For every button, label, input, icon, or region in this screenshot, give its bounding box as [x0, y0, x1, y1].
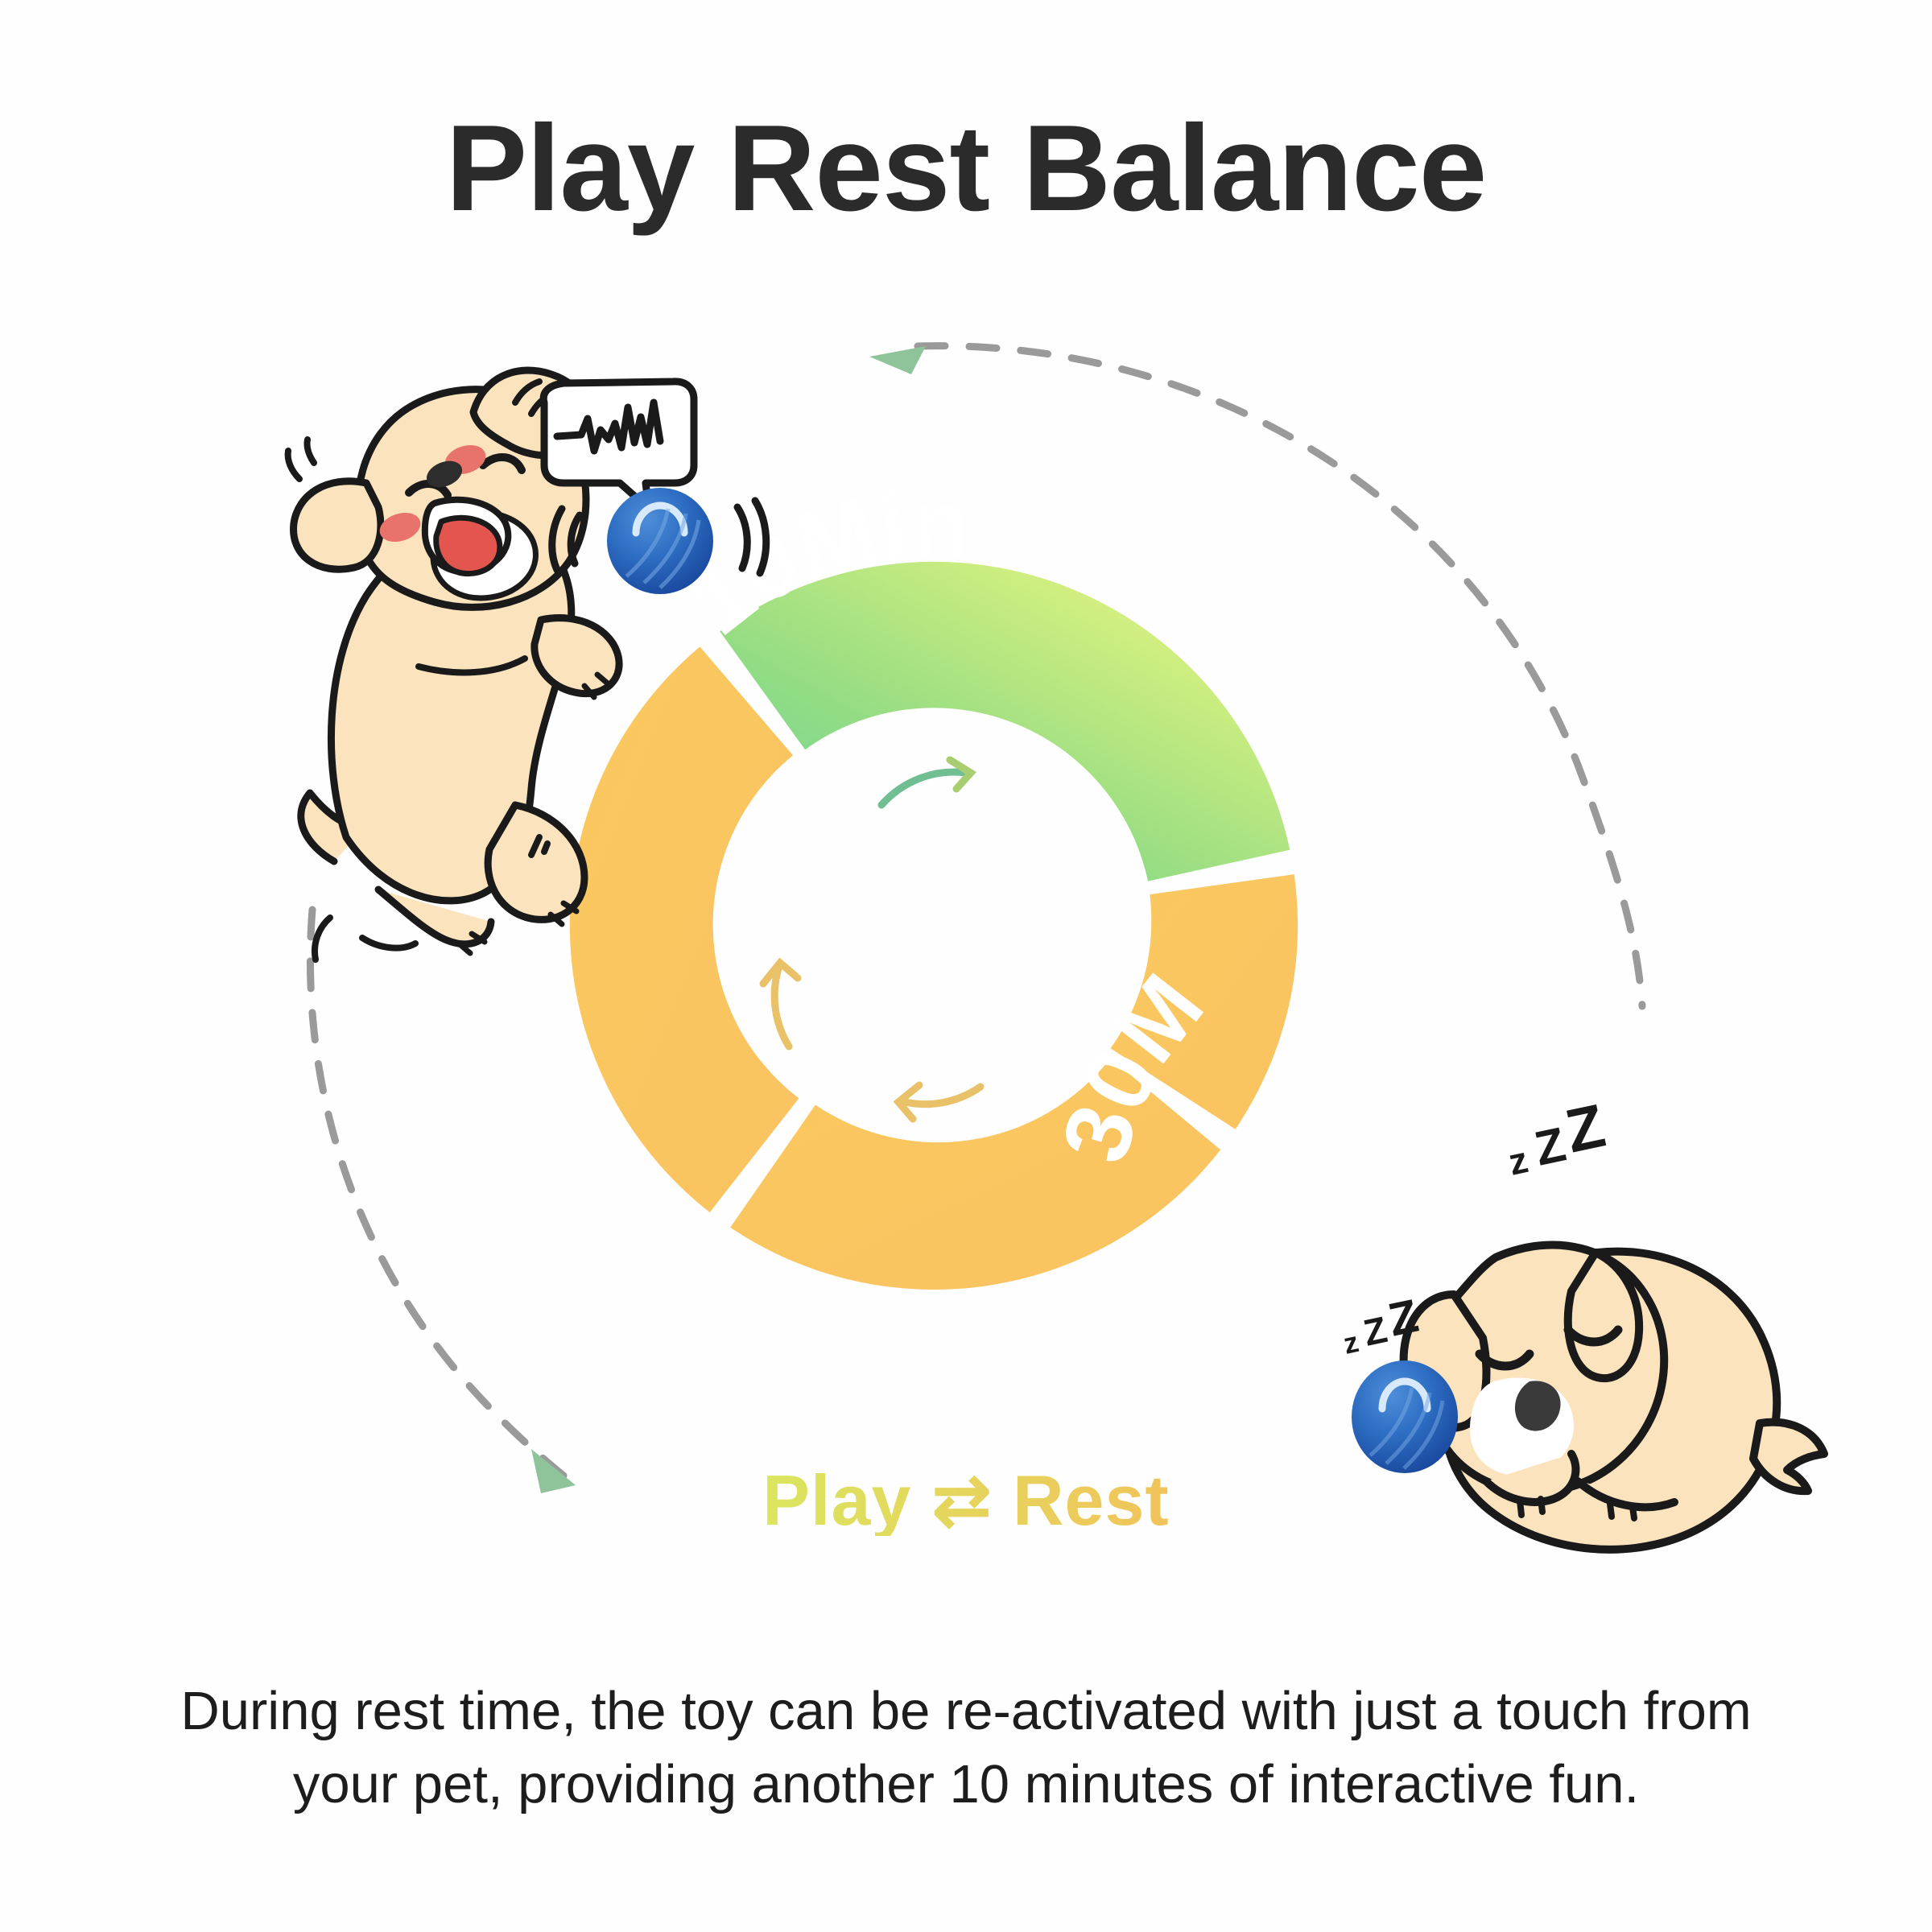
- rotation-arrow-top-icon: [881, 772, 966, 805]
- rotation-arrow-bottom-icon: [902, 1087, 980, 1104]
- excited-puppy-illustration: [288, 370, 677, 960]
- slice-label-10min: 10Min: [668, 471, 969, 654]
- smart-ball-sleeping: [1352, 1360, 1458, 1473]
- svg-text:Z: Z: [1560, 1092, 1611, 1166]
- sleep-zzz-dog: z Z Z: [1505, 1092, 1611, 1183]
- rotation-arrow-left-icon: [774, 966, 789, 1046]
- svg-text:Z: Z: [1384, 1290, 1422, 1347]
- caption-line-2: your pet, providing another 10 minutes o…: [293, 1754, 1639, 1814]
- svg-text:Z: Z: [1360, 1308, 1390, 1354]
- rotation-arrow-left-head: [763, 963, 798, 984]
- donut-slice-rest-b: [570, 646, 799, 1212]
- sleep-zzz-ball: z Z Z: [1340, 1290, 1422, 1360]
- illustration-layer: 10Min 30Min: [0, 0, 1932, 1932]
- donut-slice-30min: [730, 1059, 1220, 1290]
- page-title: Play Rest Balance: [0, 105, 1932, 233]
- infographic-canvas: Play Rest Balance: [0, 0, 1932, 1932]
- waveform-icon: [557, 402, 660, 451]
- rotation-arrow-top-head: [950, 760, 971, 789]
- rotation-arrow-bottom-head: [898, 1085, 919, 1119]
- svg-text:z: z: [1340, 1325, 1361, 1360]
- donut-chart: [570, 562, 1298, 1290]
- footer-caption: During rest time, the toy can be re-acti…: [161, 1674, 1771, 1821]
- donut-slice-10min: [720, 562, 1290, 881]
- inner-rotation-arrows: [763, 760, 980, 1119]
- bark-speech-bubble: [543, 382, 694, 509]
- play-rest-cycle-label: Play ⇄ Rest: [0, 1465, 1932, 1536]
- smart-ball-active: [552, 488, 766, 594]
- svg-text:z: z: [1505, 1138, 1531, 1183]
- svg-text:10Min: 10Min: [668, 471, 969, 654]
- svg-text:Z: Z: [1530, 1117, 1571, 1176]
- flow-arrow-left: [310, 910, 576, 1493]
- flow-arrow-top-head: [869, 346, 926, 374]
- donut-slice-rest-a: [1111, 874, 1298, 1129]
- caption-line-1: During rest time, the toy can be re-acti…: [180, 1681, 1751, 1741]
- flow-arrow-top: [869, 346, 1642, 1006]
